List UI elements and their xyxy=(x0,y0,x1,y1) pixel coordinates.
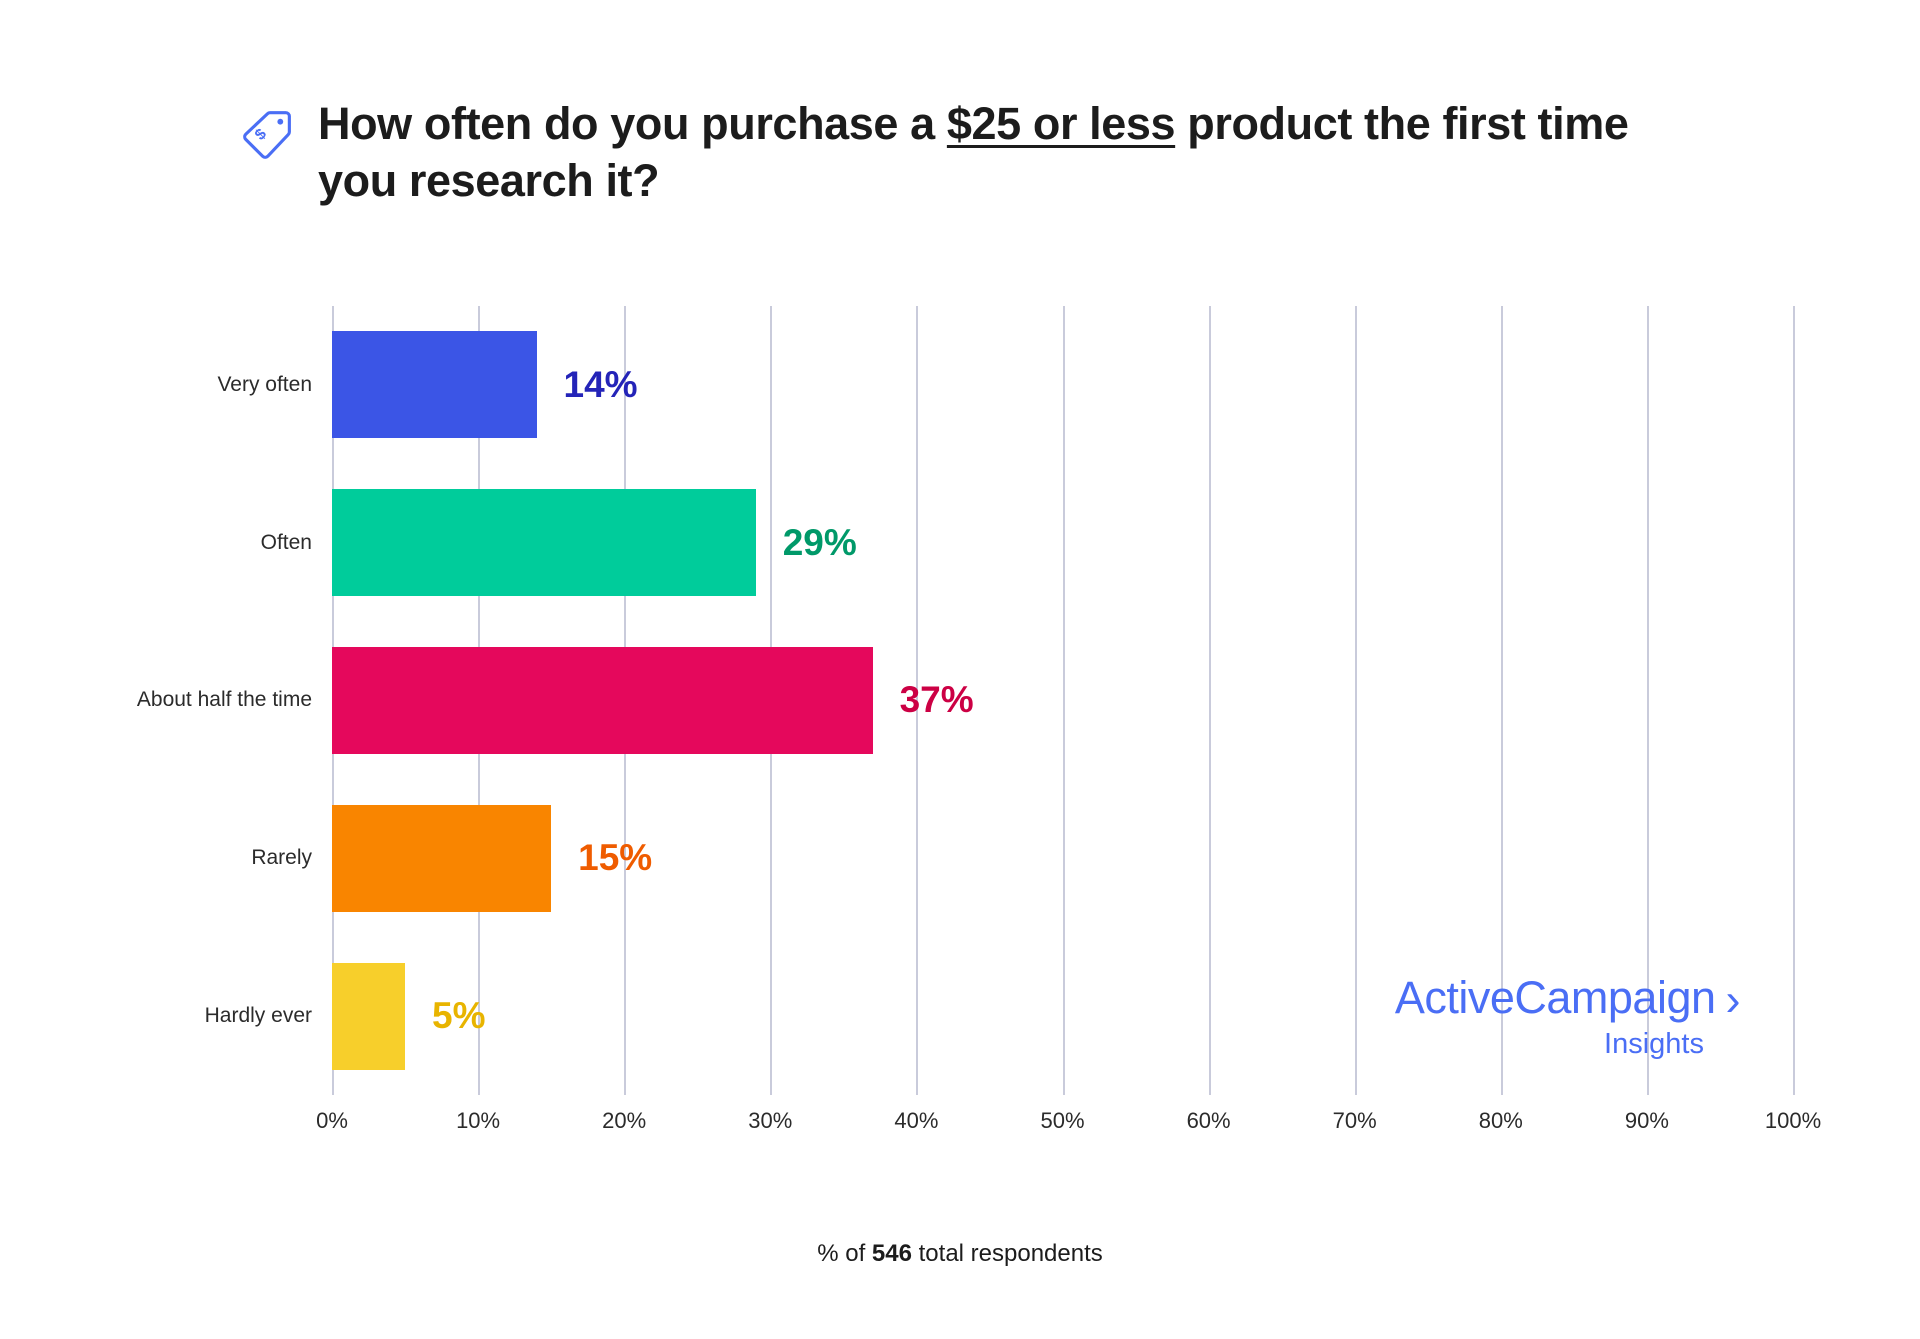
respondents-count: 546 xyxy=(872,1240,912,1267)
bar-value-label: 14% xyxy=(564,364,638,406)
bar[interactable] xyxy=(332,963,405,1070)
y-axis-label: Rarely xyxy=(251,779,312,937)
x-axis-tick-label: 90% xyxy=(1625,1108,1669,1134)
x-axis-tick-label: 50% xyxy=(1040,1108,1084,1134)
bar[interactable] xyxy=(332,331,537,438)
bar[interactable] xyxy=(332,489,756,596)
bar[interactable] xyxy=(332,805,551,912)
title-underlined-phrase: $25 or less xyxy=(947,98,1175,149)
logo-brand-text: ActiveCampaign xyxy=(1395,972,1716,1023)
x-axis-tick-label: 100% xyxy=(1765,1108,1821,1134)
bar-value-label: 37% xyxy=(900,679,974,721)
respondents-prefix: % of xyxy=(817,1240,872,1267)
x-axis-tick-label: 0% xyxy=(316,1108,348,1134)
x-axis-tick-label: 60% xyxy=(1187,1108,1231,1134)
activecampaign-logo: ActiveCampaign› Insights xyxy=(1280,975,1740,1059)
y-axis-label: Very often xyxy=(217,306,312,464)
y-axis-label: Hardly ever xyxy=(205,937,312,1095)
bar-value-label: 5% xyxy=(432,995,485,1037)
bar-value-label: 29% xyxy=(783,522,857,564)
x-axis-tick-label: 20% xyxy=(602,1108,646,1134)
bar[interactable] xyxy=(332,647,873,754)
bar-value-label: 15% xyxy=(578,837,652,879)
chevron-right-icon: › xyxy=(1726,977,1741,1022)
respondents-suffix: total respondents xyxy=(912,1240,1103,1267)
bar-row: 29% xyxy=(332,464,1793,622)
y-axis-label: About half the time xyxy=(137,622,312,780)
bar-row: 15% xyxy=(332,779,1793,937)
gridline xyxy=(1793,306,1795,1095)
x-axis-tick-label: 40% xyxy=(894,1108,938,1134)
respondents-note: % of 546 total respondents xyxy=(0,1240,1920,1268)
bar-row: 14% xyxy=(332,306,1793,464)
y-axis-labels: Very oftenOftenAbout half the timeRarely… xyxy=(0,306,312,1095)
logo-sub-text: Insights xyxy=(1280,1030,1740,1059)
title-part-1: How often do you purchase a xyxy=(318,98,947,149)
bar-row: 37% xyxy=(332,622,1793,780)
svg-text:$: $ xyxy=(252,125,270,143)
x-axis-tick-label: 10% xyxy=(456,1108,500,1134)
page-title: How often do you purchase a $25 or less … xyxy=(318,96,1648,209)
logo-brand-row: ActiveCampaign› xyxy=(1280,975,1740,1020)
chart-header: $ How often do you purchase a $25 or les… xyxy=(238,96,1658,209)
y-axis-label: Often xyxy=(261,464,312,622)
x-axis-tick-label: 30% xyxy=(748,1108,792,1134)
x-axis-tick-label: 70% xyxy=(1333,1108,1377,1134)
price-tag-dollar-icon: $ xyxy=(238,106,296,164)
x-axis-tick-label: 80% xyxy=(1479,1108,1523,1134)
x-axis-ticks: 0%10%20%30%40%50%60%70%80%90%100% xyxy=(332,1108,1793,1148)
